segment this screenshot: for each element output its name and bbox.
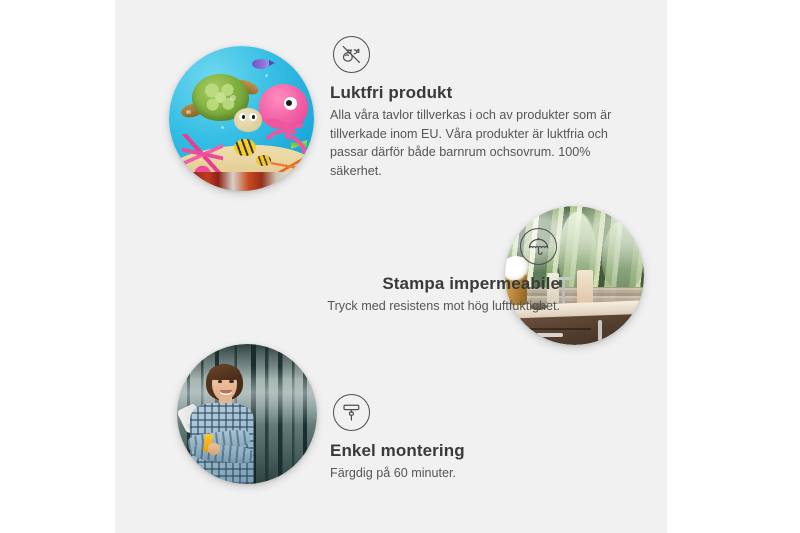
- bathroom-bottle: [577, 270, 592, 306]
- cabinet-handle: [598, 320, 602, 341]
- turtle-head: [234, 108, 262, 131]
- yellow-striped-fish: [234, 139, 256, 156]
- drawer-handle: [536, 333, 564, 336]
- bubble: [230, 95, 236, 101]
- painter-fringe: [209, 365, 240, 380]
- no-fragrance-icon: [333, 36, 370, 73]
- octopus-eye: [284, 97, 297, 110]
- pink-coral: [182, 134, 223, 173]
- feature-easy-mounting: Enkel montering Färgdig på 60 minuter.: [330, 394, 610, 483]
- feature-heading: Enkel montering: [330, 440, 610, 461]
- paint-roller-icon: [333, 394, 370, 431]
- screenshot-stage: Luktfri produkt Alla våra tavlor tillver…: [0, 0, 800, 533]
- painter-forest-circle: [177, 344, 317, 484]
- wallpaper-leaf: [602, 220, 644, 292]
- painter-hand: [208, 443, 221, 454]
- faucet-stem: [562, 278, 565, 306]
- forest-canopy: [177, 344, 317, 380]
- feature-body: Alla våra tavlor tillverkas i och av pro…: [330, 106, 630, 180]
- feature-heading: Luktfri produkt: [330, 82, 630, 103]
- feature-waterproof-print: Stampa impermeabile Tryck med resistens …: [210, 228, 560, 316]
- feature-heading: Stampa impermeabile: [210, 273, 560, 294]
- bubble: [186, 110, 190, 114]
- underwater-cartoon-circle: [169, 46, 314, 191]
- drawer-seam: [513, 328, 591, 330]
- yellow-striped-fish: [256, 155, 271, 167]
- feature-odour-free: Luktfri produkt Alla våra tavlor tillver…: [330, 36, 630, 180]
- painter-forest-image: [177, 344, 317, 484]
- underwater-cartoon-image: [169, 46, 314, 191]
- icon-wrapper: [210, 228, 560, 273]
- feature-body: Färgdig på 60 minuter.: [330, 464, 610, 483]
- feature-body: Tryck med resistens mot hög luftfuktighe…: [210, 297, 560, 316]
- sea-bottom-photo-strip: [169, 172, 314, 191]
- feature-panel: Luktfri produkt Alla våra tavlor tillver…: [115, 0, 667, 533]
- umbrella-icon: [520, 228, 557, 265]
